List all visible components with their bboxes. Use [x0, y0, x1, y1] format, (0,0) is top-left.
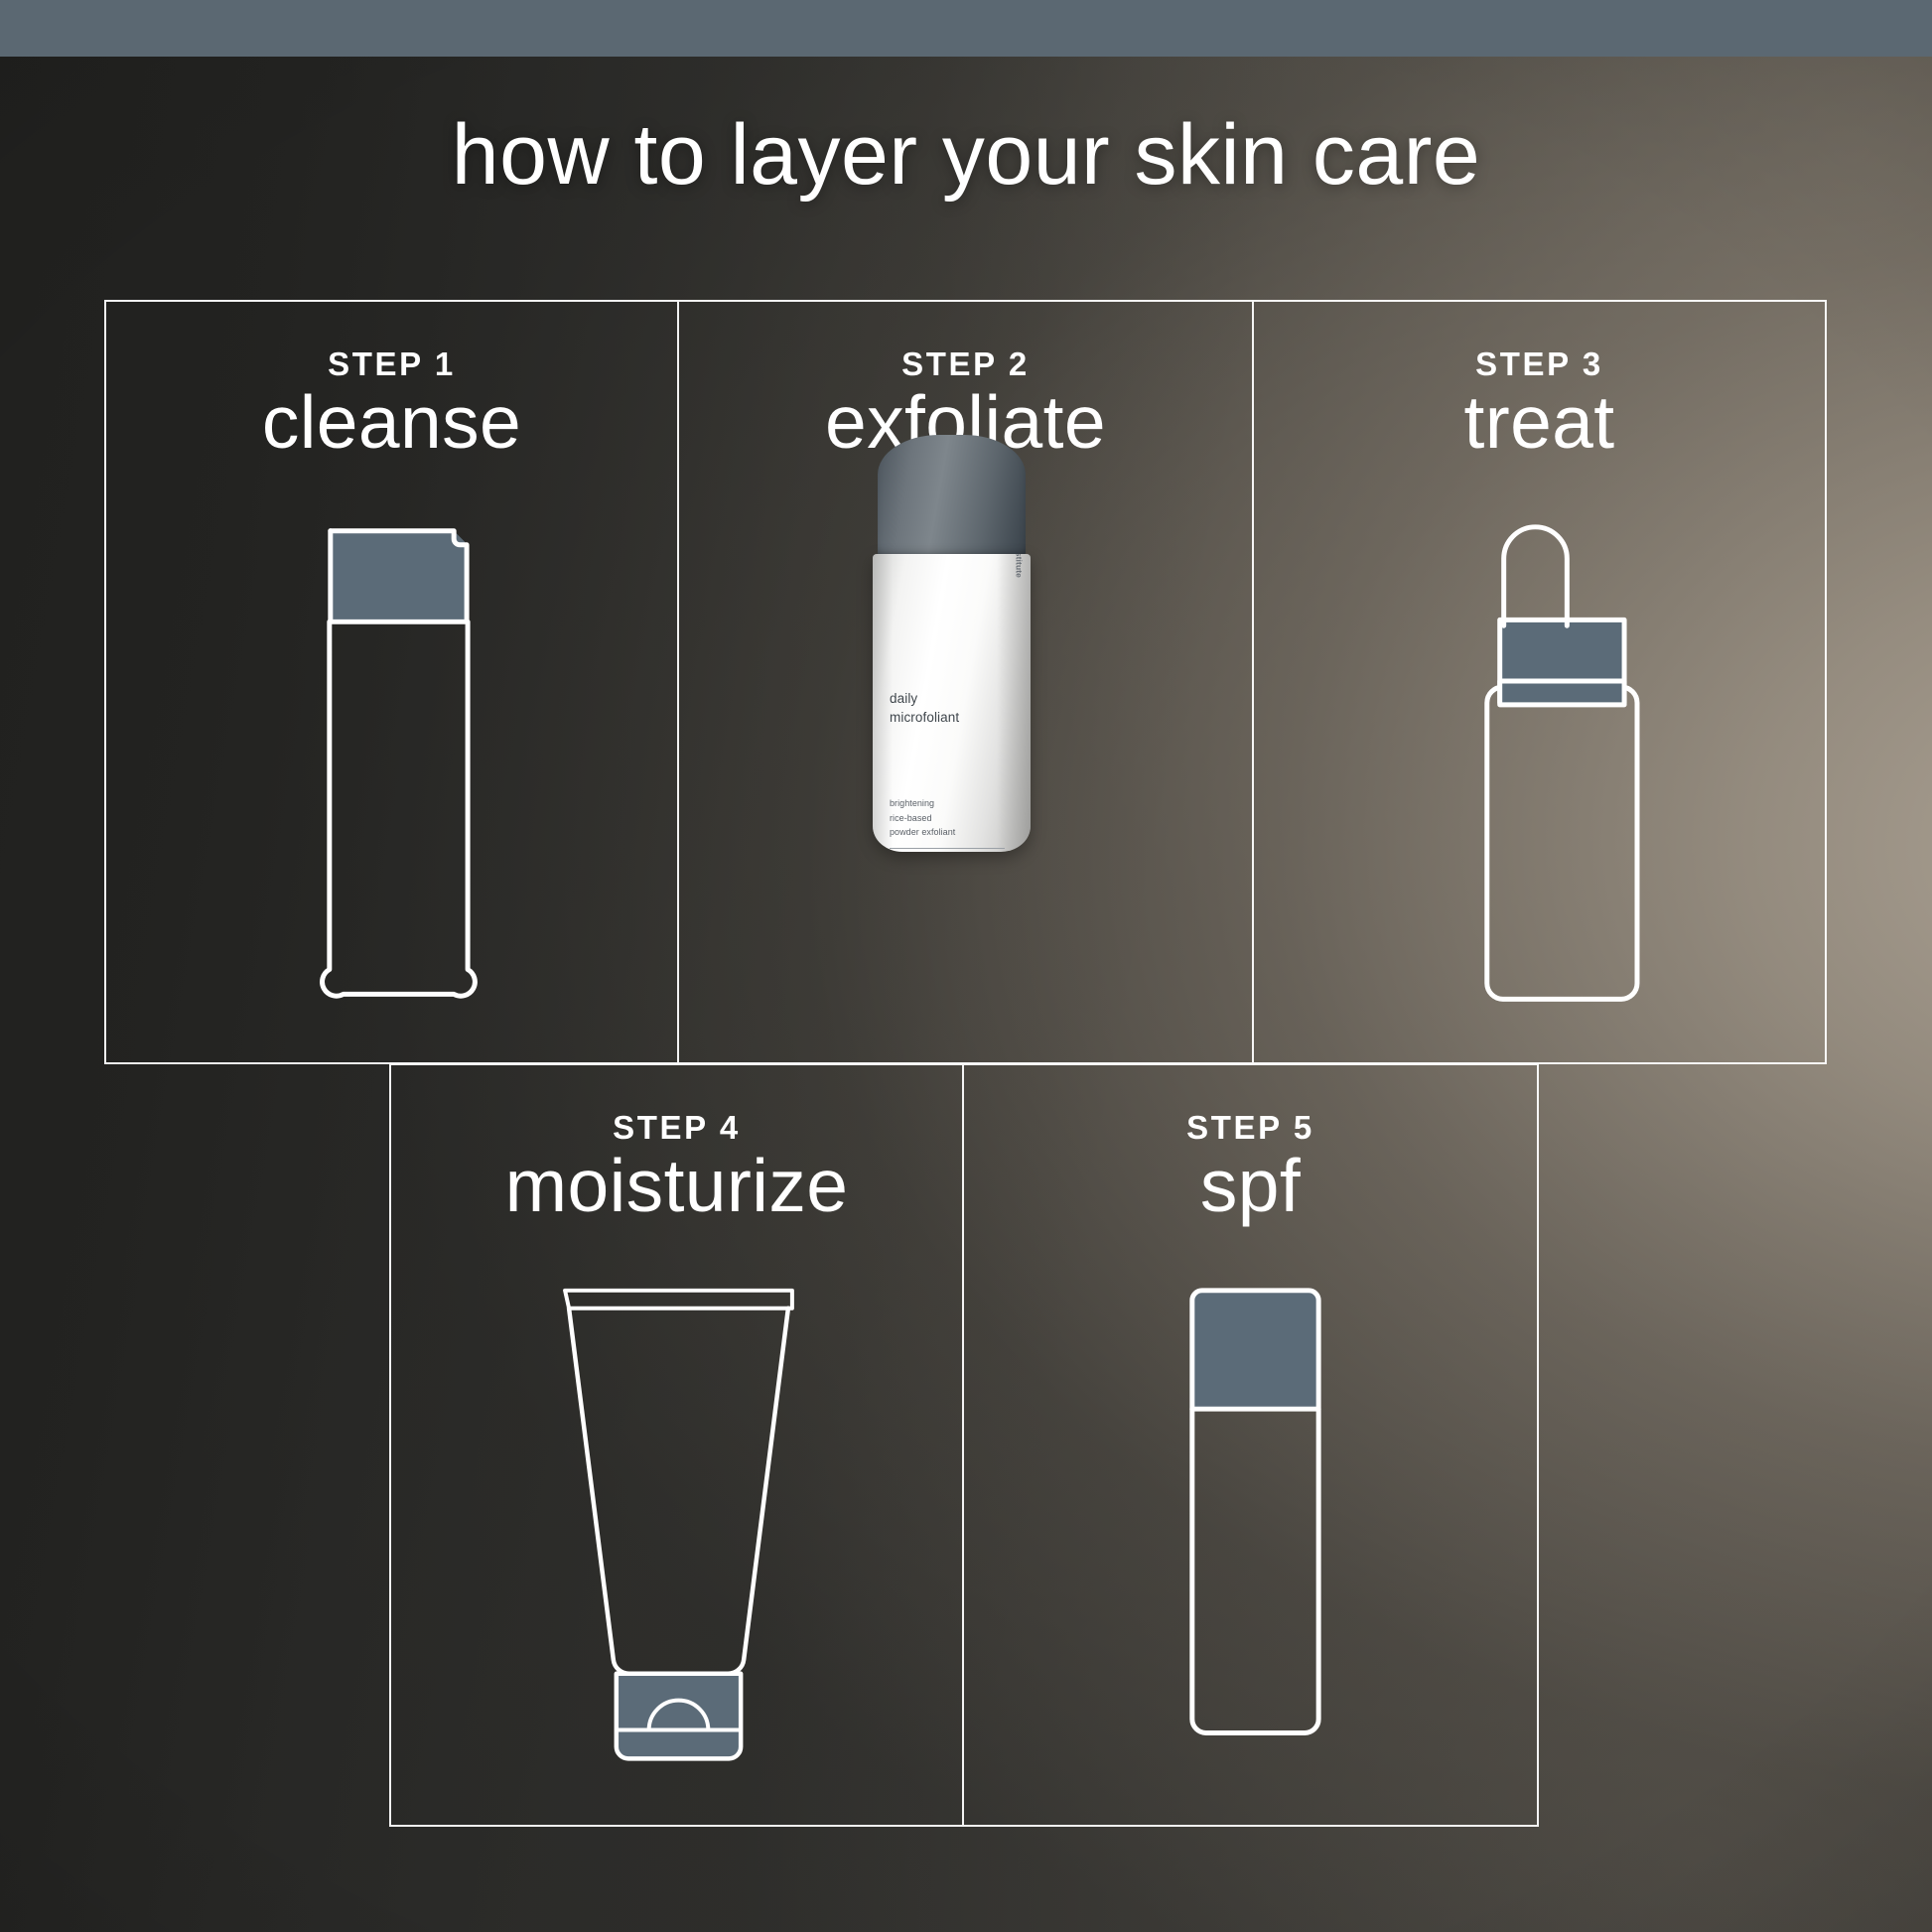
brand-name: dermalogica	[1027, 554, 1032, 578]
product-name: daily microfoliant	[890, 689, 959, 727]
step-name: cleanse	[106, 383, 677, 462]
step-label: STEP 2	[679, 345, 1252, 383]
step-label: STEP 4	[391, 1109, 962, 1147]
step-card-exfoliate[interactable]: STEP 2 exfoliate dermalogica professiona…	[678, 300, 1253, 1064]
product-name-line1: daily	[890, 689, 959, 708]
product-right-shading	[997, 554, 1031, 852]
product-body: dermalogica professional-grade skin care…	[873, 554, 1031, 852]
product-cap	[878, 435, 1026, 558]
step-card-moisturize[interactable]: STEP 4 moisturize	[389, 1063, 963, 1827]
daily-microfoliant-product-photo: dermalogica professional-grade skin care…	[866, 435, 1036, 852]
product-vertical-text-block: dermalogica professional-grade skin care…	[1015, 554, 1031, 578]
top-bar	[0, 0, 1932, 57]
product-divider-rule	[890, 848, 1005, 849]
step-label: STEP 1	[106, 345, 677, 383]
page-title: how to layer your skin care	[0, 112, 1932, 198]
product-name-line2: microfoliant	[890, 708, 959, 727]
infographic-canvas: how to layer your skin care STEP 1 clean…	[0, 0, 1932, 1932]
step-label: STEP 5	[964, 1109, 1537, 1147]
step-name: treat	[1254, 383, 1825, 462]
step-name: moisturize	[391, 1147, 962, 1225]
step-card-treat[interactable]: STEP 3 treat	[1253, 300, 1827, 1064]
step-card-spf[interactable]: STEP 5 spf	[963, 1063, 1539, 1827]
step-label: STEP 3	[1254, 345, 1825, 383]
product-description-en: brightening rice-based powder exfoliant	[890, 796, 955, 840]
step-card-cleanse[interactable]: STEP 1 cleanse	[104, 300, 678, 1064]
step-name: spf	[964, 1147, 1537, 1225]
brand-tagline: professional-grade skin care by The Inte…	[1015, 554, 1024, 578]
